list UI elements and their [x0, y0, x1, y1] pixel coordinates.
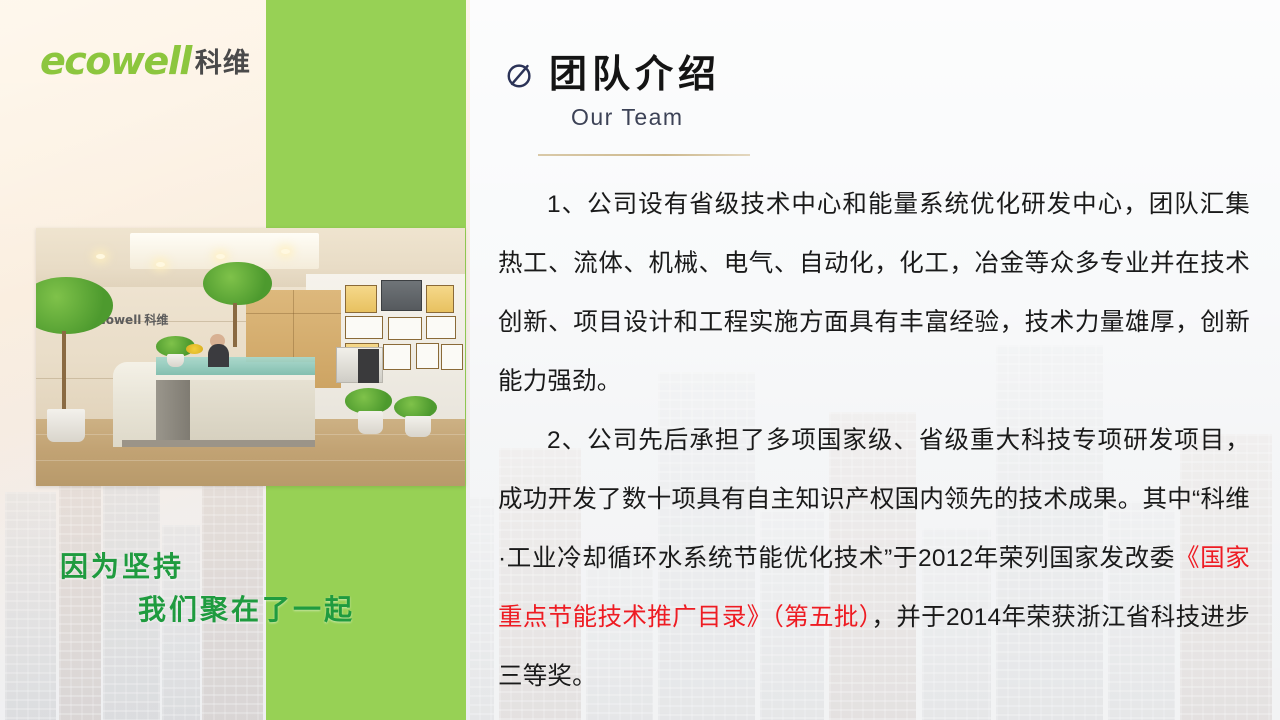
logo-wordmark-en: ecowell	[40, 42, 191, 80]
body-paragraph-1: 1、公司设有省级技术中心和能量系统优化研发中心，团队汇集热工、流体、机械、电气、…	[498, 175, 1250, 411]
tagline-line-1: 因为坚持	[60, 551, 184, 582]
logo-wordmark-cn: 科维	[195, 50, 251, 77]
tagline: 因为坚持 我们聚在了一起	[60, 545, 460, 632]
slide-canvas: ecowell 科维 ecowell科维	[0, 0, 1280, 720]
paragraph-1-run-1: 1、公司设有省级技术中心和能量系统优化研发中心，团队汇集热工、流体、机械、电气、…	[498, 191, 1250, 395]
page-subtitle: Our Team	[571, 104, 721, 131]
section-title-block: 团队介绍 Our Team	[505, 56, 721, 131]
paragraph-2-run-1: 2、公司先后承担了多项国家级、省级重大科技专项研发项目，成功开发了数十项具有自主…	[498, 427, 1250, 572]
body-paragraph-2: 2、公司先后承担了多项国家级、省级重大科技专项研发项目，成功开发了数十项具有自主…	[498, 411, 1250, 706]
company-logo: ecowell 科维	[40, 42, 251, 80]
title-underline-divider	[538, 154, 750, 156]
page-title: 团队介绍	[549, 56, 721, 94]
body-text: 1、公司设有省级技术中心和能量系统优化研发中心，团队汇集热工、流体、机械、电气、…	[498, 175, 1250, 706]
slashed-circle-icon	[505, 60, 535, 90]
tagline-line-2: 我们聚在了一起	[60, 588, 460, 631]
office-reception-photo: ecowell科维	[36, 228, 465, 486]
photo-wall-logo-cn: 科维	[144, 313, 168, 327]
